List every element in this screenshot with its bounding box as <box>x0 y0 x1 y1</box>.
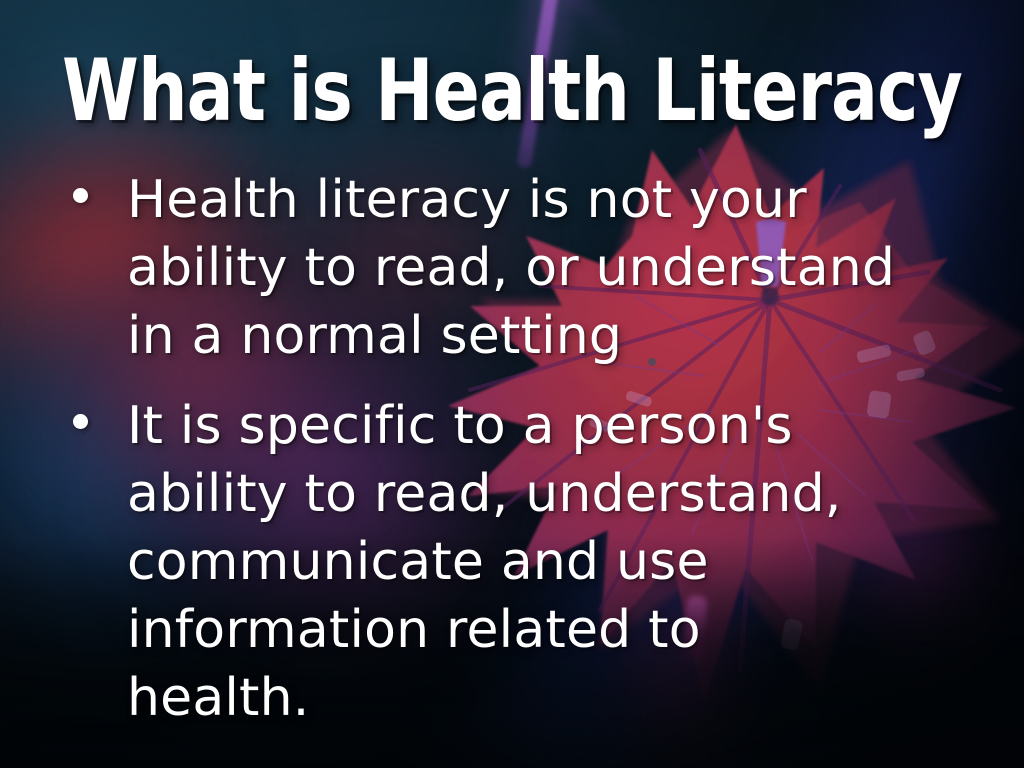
bullet-marker <box>58 392 127 429</box>
bullet-text: Health literacy is not your ability to r… <box>127 166 897 370</box>
presentation-slide: What is Health Literacy Health literacy … <box>0 0 1024 768</box>
bullet-dot-icon <box>73 188 88 203</box>
slide-content: What is Health Literacy Health literacy … <box>0 0 1024 768</box>
bullet-text: It is specific to a person's ability to … <box>127 392 897 732</box>
bullet-list-item: Health literacy is not your ability to r… <box>58 166 978 370</box>
bullet-list: Health literacy is not your ability to r… <box>58 166 978 754</box>
slide-title: What is Health Literacy <box>51 48 973 134</box>
bullet-list-item: It is specific to a person's ability to … <box>58 392 978 732</box>
bullet-marker <box>58 166 127 203</box>
bullet-dot-icon <box>73 414 88 429</box>
